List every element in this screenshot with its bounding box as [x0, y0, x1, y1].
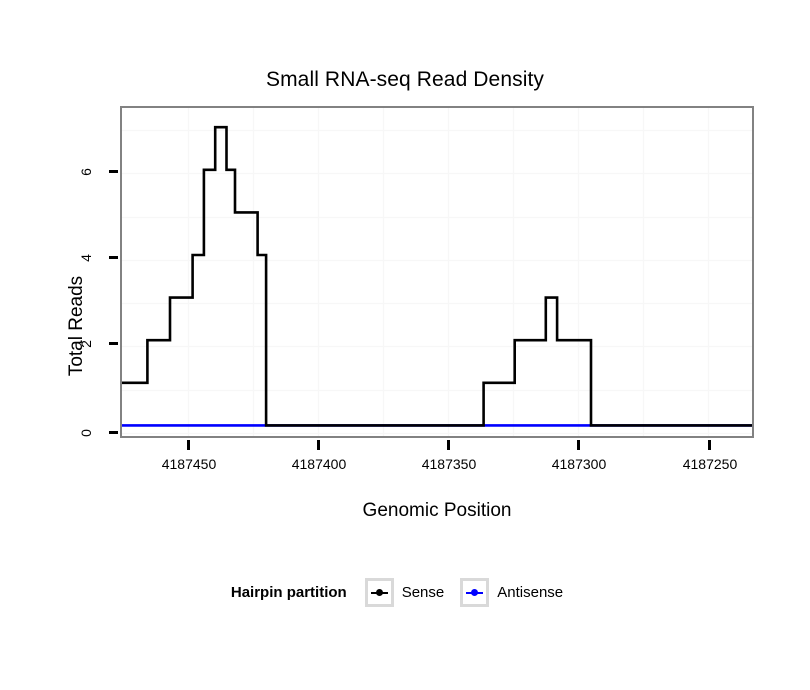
y-tick-mark-4	[109, 256, 118, 259]
legend-key-sense-icon	[365, 578, 394, 607]
y-tick-mark-6	[109, 170, 118, 173]
legend-title: Hairpin partition	[231, 584, 347, 601]
x-tick-mark-4187450	[187, 440, 190, 450]
plot-area: 6 4 2 0 4187450 4187400 4187350 4187300 …	[120, 106, 754, 438]
legend-label-sense: Sense	[402, 584, 445, 601]
x-axis-title: Genomic Position	[120, 500, 754, 522]
x-tick-mark-4187300	[577, 440, 580, 450]
y-axis-title: Total Reads	[66, 226, 88, 426]
x-tick-mark-4187350	[447, 440, 450, 450]
chart-legend: Hairpin partition Sense Antisense	[0, 578, 810, 607]
legend-key-antisense-icon	[460, 578, 489, 607]
chart-title: Small RNA-seq Read Density	[0, 68, 810, 92]
legend-entry-sense[interactable]: Sense	[365, 578, 445, 607]
x-tick-label-4187350: 4187350	[389, 456, 509, 472]
x-tick-label-4187450: 4187450	[129, 456, 249, 472]
y-tick-mark-0	[109, 431, 118, 434]
y-tick-label-6: 6	[78, 152, 94, 192]
plot-canvas	[122, 108, 752, 436]
chart-figure: Small RNA-seq Read Density	[0, 0, 810, 690]
legend-entry-antisense[interactable]: Antisense	[460, 578, 563, 607]
x-tick-mark-4187250	[708, 440, 711, 450]
x-tick-mark-4187400	[317, 440, 320, 450]
y-tick-mark-2	[109, 342, 118, 345]
x-tick-label-4187300: 4187300	[519, 456, 639, 472]
legend-label-antisense: Antisense	[497, 584, 563, 601]
x-tick-label-4187250: 4187250	[650, 456, 770, 472]
x-tick-label-4187400: 4187400	[259, 456, 379, 472]
